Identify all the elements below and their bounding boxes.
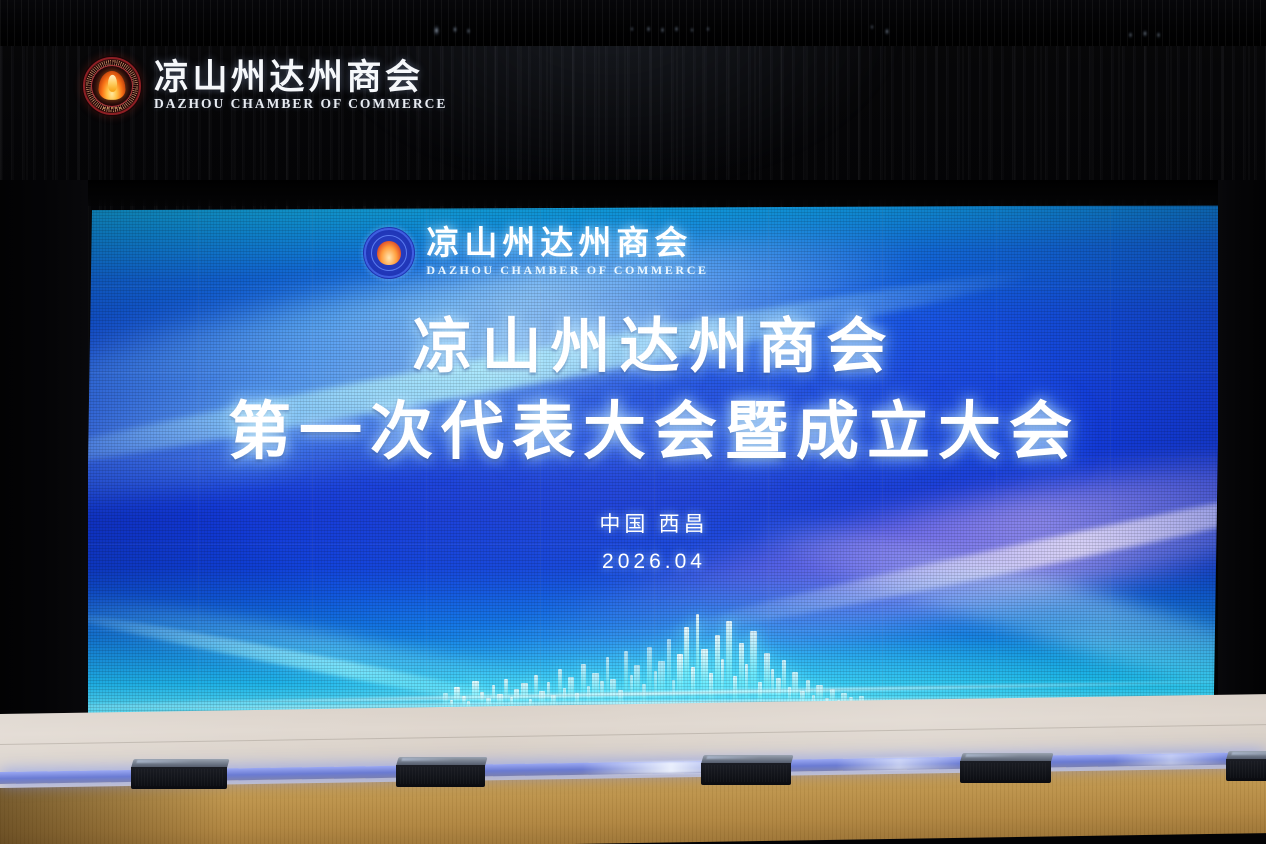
proscenium-top-mask — [0, 180, 1266, 206]
stage-monitor-speaker — [701, 755, 791, 787]
emblem-flame-icon — [99, 71, 126, 100]
ceiling-light-glint — [1128, 30, 1133, 40]
chamber-flame-emblem — [363, 227, 415, 279]
emblem-base-stars — [103, 107, 121, 109]
ceiling-light-glint — [870, 23, 874, 31]
stage-monitor-speaker — [1226, 751, 1266, 783]
monitor-highlight — [1231, 752, 1266, 755]
led-brand-name-cn: 凉山州达州商会 — [426, 228, 708, 262]
ceiling-light-glint — [432, 22, 441, 39]
monitor-grille-texture — [964, 763, 1047, 780]
led-strip-sparkle-3 — [1114, 753, 1228, 767]
led-brand-text: 凉山州达州商会 DAZHOU CHAMBER OF COMMERCE — [426, 228, 708, 279]
wall-brand-lockup: 凉山州达州商会 DAZHOU CHAMBER OF COMMERCE — [82, 56, 447, 116]
monitor-front-grille — [1226, 759, 1266, 781]
event-title-line-2: 第一次代表大会暨成立大会 — [228, 395, 1080, 471]
stage-monitor-speaker — [131, 759, 227, 791]
monitor-front-grille — [396, 765, 485, 787]
wall-brand-text: 凉山州达州商会 DAZHOU CHAMBER OF COMMERCE — [154, 60, 447, 113]
stage-monitor-speaker — [396, 757, 485, 789]
auditorium-ceiling — [0, 0, 1266, 46]
auditorium-stage-photo: 凉山州达州商会 DAZHOU CHAMBER OF COMMERCE — [0, 0, 1266, 844]
chamber-flame-emblem — [82, 56, 142, 116]
ceiling-light-glint — [1156, 30, 1161, 40]
ceiling-light-glint — [690, 26, 694, 34]
monitor-highlight — [706, 756, 761, 759]
ceiling-light-glint — [674, 24, 679, 34]
proscenium-left-mask — [0, 180, 88, 725]
ceiling-light-glint — [660, 25, 665, 35]
ceiling-light-glint — [706, 25, 710, 33]
event-title-line-1: 凉山州达州商会 — [228, 313, 1080, 383]
monitor-highlight — [136, 760, 194, 763]
monitor-grille-texture — [135, 769, 223, 786]
monitor-front-grille — [960, 761, 1051, 783]
stage-monitor-speaker — [960, 753, 1051, 785]
monitor-highlight — [965, 754, 1020, 757]
ceiling-light-glint — [466, 26, 471, 36]
monitor-grille-texture — [1230, 761, 1266, 778]
ceiling-light-glint — [646, 24, 651, 34]
proscenium-right-mask — [1218, 180, 1266, 725]
led-screen-content: 凉山州达州商会 DAZHOU CHAMBER OF COMMERCE 凉山州达州… — [84, 205, 1224, 717]
emblem-flame-icon — [377, 241, 401, 265]
event-location: 中国 西昌 — [599, 508, 708, 538]
wall-brand-name-cn: 凉山州达州商会 — [154, 60, 447, 96]
monitor-grille-texture — [705, 765, 787, 782]
ceiling-slat-texture — [0, 0, 1266, 46]
event-meta-block: 中国 西昌 2026.04 — [599, 508, 708, 574]
event-date: 2026.04 — [599, 550, 708, 574]
monitor-grille-texture — [400, 767, 481, 784]
led-video-wall: 凉山州达州商会 DAZHOU CHAMBER OF COMMERCE 凉山州达州… — [84, 205, 1224, 717]
wall-brand-name-en: DAZHOU CHAMBER OF COMMERCE — [154, 96, 447, 112]
led-brand-lockup: 凉山州达州商会 DAZHOU CHAMBER OF COMMERCE — [363, 227, 708, 279]
led-strip-sparkle-2 — [836, 757, 963, 771]
led-brand-name-en: DAZHOU CHAMBER OF COMMERCE — [426, 263, 708, 278]
monitor-front-grille — [701, 763, 791, 785]
monitor-front-grille — [131, 767, 227, 789]
event-title-block: 凉山州达州商会 第一次代表大会暨成立大会 — [228, 313, 1080, 470]
ceiling-light-glint — [630, 25, 634, 33]
monitor-highlight — [401, 758, 455, 761]
